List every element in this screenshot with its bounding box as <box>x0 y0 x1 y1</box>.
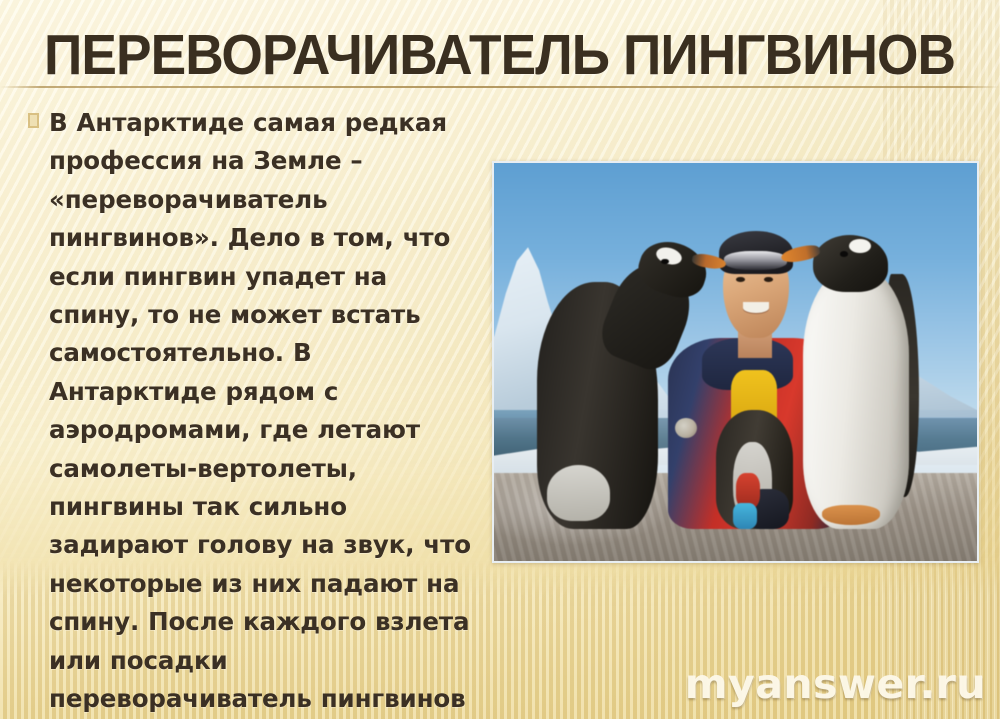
penguin-right-body <box>803 266 909 529</box>
title-block: ПЕРЕВОРАЧИВАТЕЛЬ ПИНГВИНОВ <box>0 24 1000 92</box>
photo-content <box>494 163 977 561</box>
man-blue-glove <box>733 503 757 529</box>
penguin-left-belly <box>547 465 610 521</box>
ski-goggles-icon <box>724 251 787 269</box>
penguin-right-eyepatch <box>849 239 871 253</box>
bullet-list-item: В Антарктиде самая редкая профессия на З… <box>28 104 478 719</box>
title-divider <box>0 86 1000 88</box>
body-text-block: В Антарктиде самая редкая профессия на З… <box>28 104 478 719</box>
square-bullet-icon <box>28 113 39 128</box>
slide-canvas: ПЕРЕВОРАЧИВАТЕЛЬ ПИНГВИНОВ В Антарктиде … <box>0 0 1000 719</box>
man-smile <box>743 302 769 312</box>
man-eye-left <box>736 277 744 282</box>
penguin-right-eye <box>840 251 848 257</box>
site-watermark: myanswer.ru <box>685 661 986 707</box>
man-eye-right <box>764 277 772 282</box>
body-paragraph: В Антарктиде самая редкая профессия на З… <box>49 104 478 719</box>
page-title: ПЕРЕВОРАЧИВАТЕЛЬ ПИНГВИНОВ <box>44 24 955 86</box>
penguin-photo <box>492 161 979 563</box>
